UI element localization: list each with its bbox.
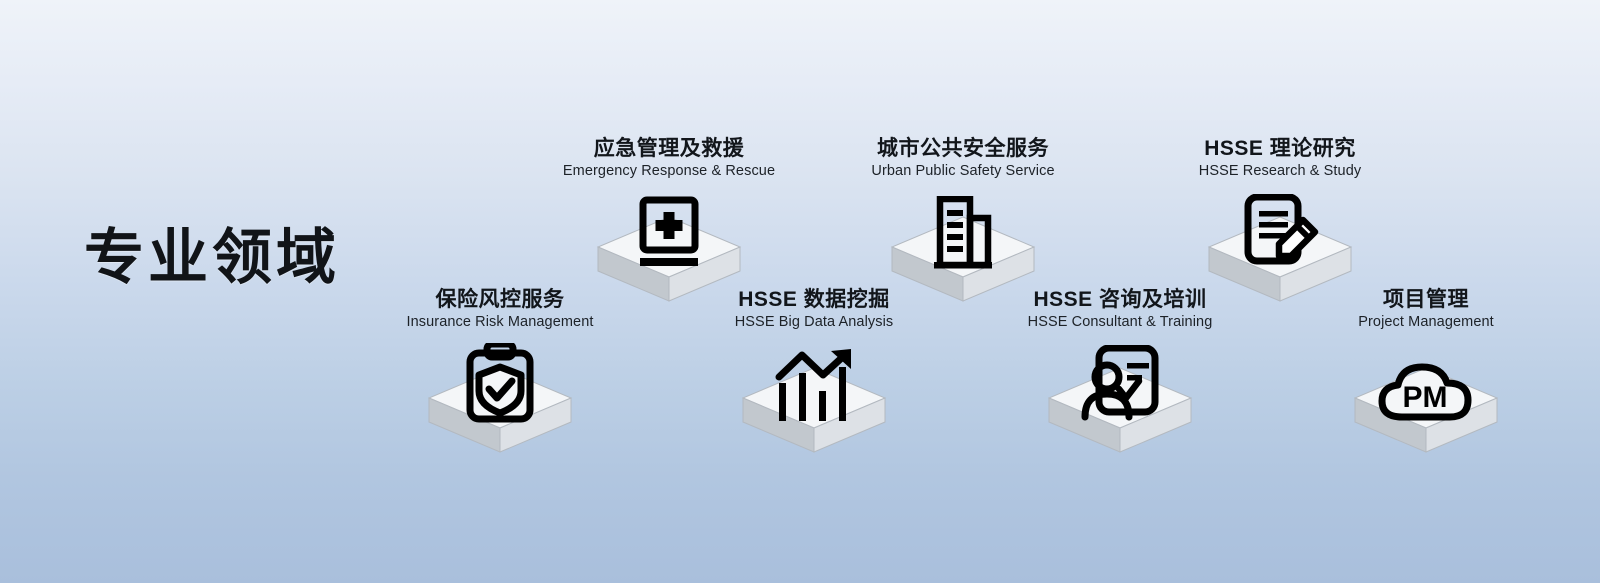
domain-item-icon-stage (694, 341, 934, 461)
domain-item-label-cn: HSSE 理论研究 (1160, 138, 1400, 160)
person-id-card-icon (1079, 345, 1161, 423)
domain-item-label-en: Project Management (1306, 315, 1546, 331)
domain-item-hsse-research-study[interactable]: HSSE 理论研究HSSE Research & Study (1160, 138, 1400, 310)
city-buildings-icon (926, 196, 1000, 272)
cloud-pm-icon: PM (1378, 361, 1474, 423)
clipboard-shield-check-icon (464, 343, 536, 423)
svg-text:PM: PM (1403, 381, 1448, 414)
domain-item-label-cn: 保险风控服务 (380, 289, 620, 311)
cloud-pm-icon: PM (1378, 361, 1474, 423)
medical-monitor-plus-icon (632, 196, 706, 272)
domain-item-label-cn: HSSE 数据挖掘 (694, 289, 934, 311)
page-title: 专业领域 (84, 228, 340, 288)
domain-item-icon-stage (1000, 341, 1240, 461)
domain-item-hsse-consultant-training[interactable]: HSSE 咨询及培训HSSE Consultant & Training (1000, 289, 1240, 461)
domain-item-label-en: HSSE Big Data Analysis (694, 315, 934, 331)
domain-item-label-cn: HSSE 咨询及培训 (1000, 289, 1240, 311)
city-buildings-icon (926, 196, 1000, 272)
domain-item-label-en: HSSE Consultant & Training (1000, 315, 1240, 331)
domain-item-insurance-risk-management[interactable]: 保险风控服务Insurance Risk Management (380, 289, 620, 461)
bar-chart-trend-icon (771, 349, 857, 423)
domain-item-hsse-big-data-analysis[interactable]: HSSE 数据挖掘HSSE Big Data Analysis (694, 289, 934, 461)
person-id-card-icon (1079, 345, 1161, 423)
document-pencil-icon (1240, 194, 1320, 272)
domain-item-label-cn: 城市公共安全服务 (843, 138, 1083, 160)
domain-item-icon-stage (380, 341, 620, 461)
professional-domains-banner: 专业领域 应急管理及救援Emergency Response & Rescue … (0, 0, 1600, 583)
document-pencil-icon (1240, 194, 1320, 272)
medical-monitor-plus-icon (632, 196, 706, 272)
domain-item-label-cn: 项目管理 (1306, 289, 1546, 311)
clipboard-shield-check-icon (464, 343, 536, 423)
bar-chart-trend-icon (771, 349, 857, 423)
domain-item-emergency-response-rescue[interactable]: 应急管理及救援Emergency Response & Rescue (549, 138, 789, 310)
domain-item-project-management[interactable]: 项目管理Project Management PM (1306, 289, 1546, 461)
domain-item-label-en: Urban Public Safety Service (843, 164, 1083, 180)
domain-item-label-en: Emergency Response & Rescue (549, 164, 789, 180)
domain-item-urban-public-safety-service[interactable]: 城市公共安全服务Urban Public Safety Service (843, 138, 1083, 310)
domain-item-icon-stage: PM (1306, 341, 1546, 461)
domain-item-label-en: HSSE Research & Study (1160, 164, 1400, 180)
domain-item-label-en: Insurance Risk Management (380, 315, 620, 331)
domain-item-label-cn: 应急管理及救援 (549, 138, 789, 160)
